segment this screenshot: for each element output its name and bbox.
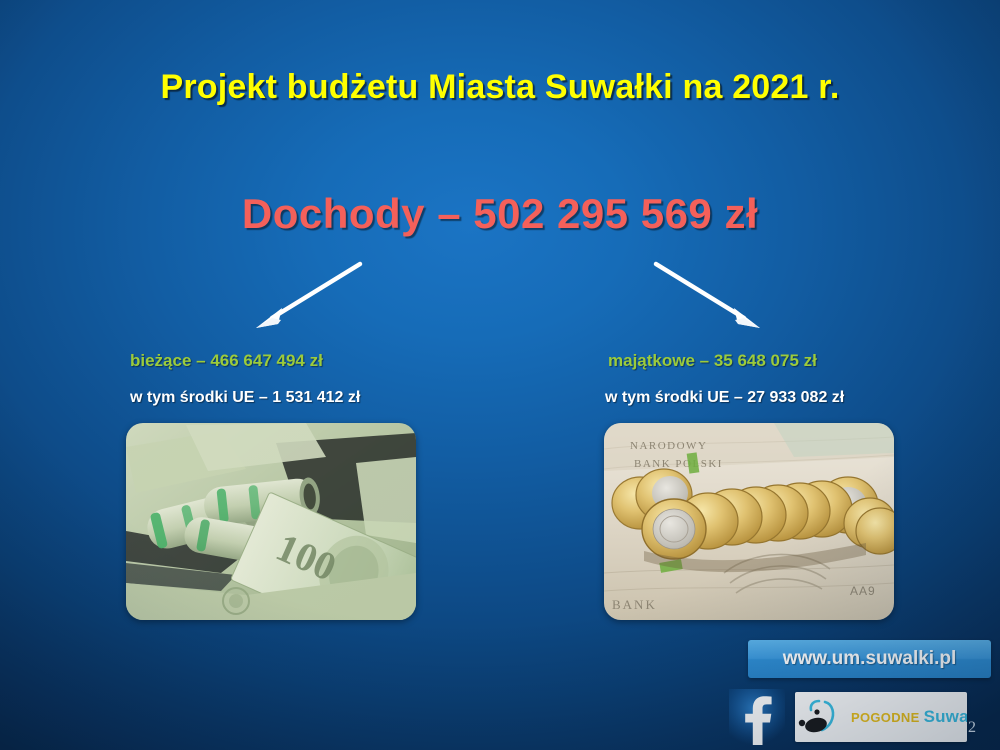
- pogodne-suwalki-mark-icon: [795, 694, 851, 740]
- logo-text-suwalki: Suwałki: [924, 707, 967, 727]
- arrow-down-right-icon: [648, 258, 778, 338]
- photo-coins: NARODOWY BANK POLSKI BANK AA9: [604, 423, 894, 620]
- svg-text:BANK: BANK: [612, 597, 657, 612]
- eu-funds-label-biezace: w tym środki UE – 1 531 412 zł: [130, 389, 360, 407]
- slide-title: Projekt budżetu Miasta Suwałki na 2021 r…: [0, 68, 1000, 107]
- svg-text:AA9: AA9: [850, 584, 876, 598]
- pogodne-suwalki-logo[interactable]: POGODNE Suwałki: [795, 692, 967, 742]
- facebook-icon[interactable]: [729, 689, 785, 745]
- page-number: 2: [968, 719, 976, 737]
- category-label-biezace: bieżące – 466 647 494 zł: [130, 351, 323, 371]
- category-label-majatkowe: majątkowe – 35 648 075 zł: [608, 351, 817, 371]
- presentation-slide: Projekt budżetu Miasta Suwałki na 2021 r…: [0, 0, 1000, 750]
- arrow-down-left-icon: [238, 258, 368, 338]
- svg-text:BANK POLSKI: BANK POLSKI: [634, 458, 723, 470]
- photo-banknotes: 100 +: [126, 423, 416, 620]
- logo-wordmark: POGODNE Suwałki: [851, 707, 967, 727]
- slide-headline: Dochody – 502 295 569 zł: [0, 190, 1000, 238]
- website-url-text: www.um.suwalki.pl: [783, 648, 957, 670]
- logo-text-pogodne: POGODNE: [851, 710, 920, 725]
- svg-text:NARODOWY: NARODOWY: [630, 440, 707, 452]
- website-url-banner[interactable]: www.um.suwalki.pl: [748, 640, 991, 678]
- eu-funds-label-majatkowe: w tym środki UE – 27 933 082 zł: [605, 389, 844, 407]
